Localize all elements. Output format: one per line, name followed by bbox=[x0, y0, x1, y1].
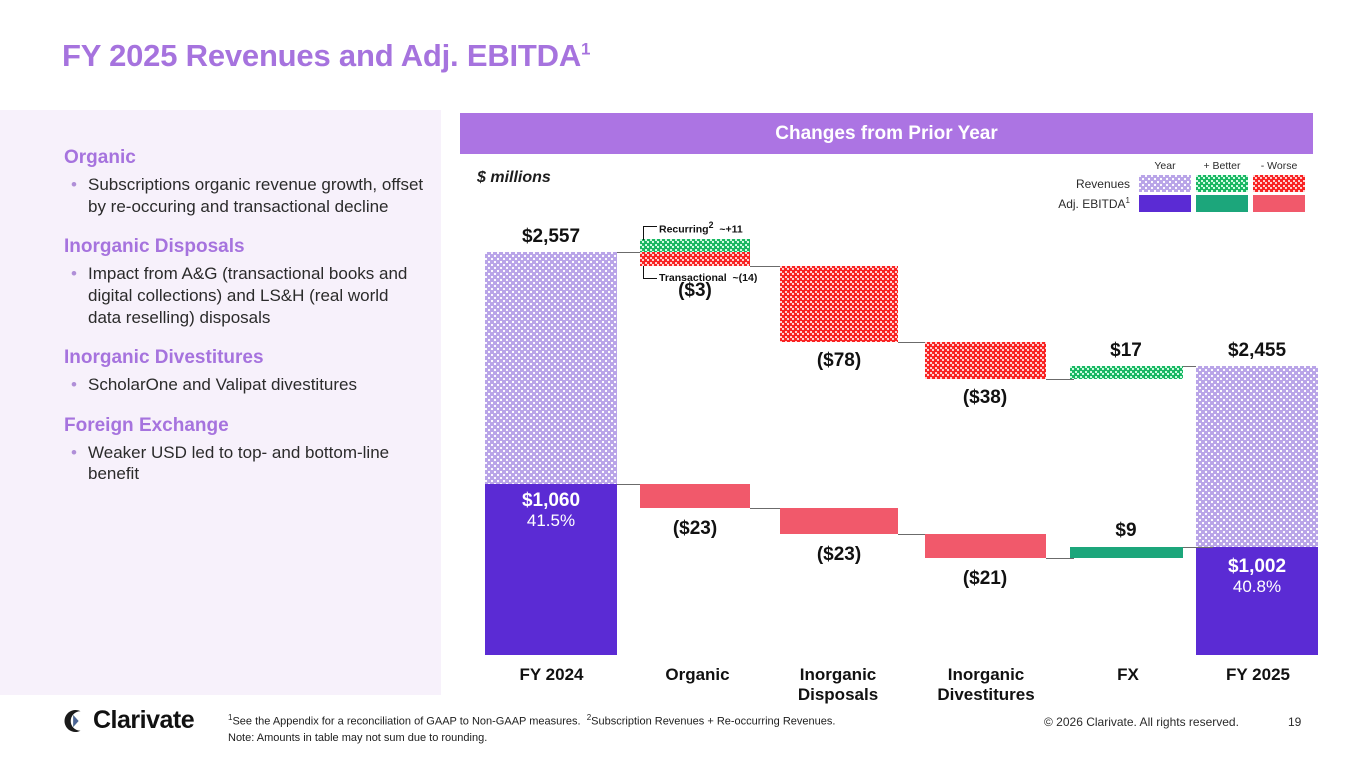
value-label-divestitures-revenue: ($38) bbox=[920, 387, 1050, 409]
callout-recurring-superscript: 2 bbox=[709, 220, 714, 230]
value-label-fx-revenue: $17 bbox=[1061, 340, 1191, 362]
legend-col-worse: - Worse bbox=[1253, 160, 1305, 172]
bar-organic-ebitda[interactable] bbox=[640, 484, 750, 508]
commentary-group-inorganic-disposals: Inorganic Disposals • Impact from A&G (t… bbox=[64, 235, 424, 328]
commentary-bullet: • ScholarOne and Valipat divestitures bbox=[64, 374, 424, 396]
ebitda-value: $1,002 bbox=[1196, 556, 1318, 577]
value-label-disposals-ebitda: ($23) bbox=[774, 544, 904, 566]
footnote-1-text: See the Appendix for a reconciliation of… bbox=[232, 716, 580, 728]
page-title-superscript: 1 bbox=[581, 40, 590, 59]
x-tick-organic: Organic bbox=[625, 665, 770, 685]
bar-organic-revenue-transactional[interactable] bbox=[640, 252, 750, 266]
value-label-organic-ebitda: ($23) bbox=[630, 518, 760, 540]
bar-fx-ebitda[interactable] bbox=[1070, 547, 1183, 558]
callout-recurring-value: ~+11 bbox=[719, 224, 742, 236]
value-label-fy2025-ebitda: $1,002 40.8% bbox=[1196, 556, 1318, 597]
commentary-heading: Organic bbox=[64, 146, 424, 170]
legend-swatch-revenue-worse bbox=[1253, 175, 1305, 192]
commentary-bullet-text: ScholarOne and Valipat divestitures bbox=[88, 375, 357, 394]
clarivate-wordmark: Clarivate bbox=[93, 706, 194, 735]
bullet-dot-icon: • bbox=[71, 442, 77, 464]
bar-fx-revenue[interactable] bbox=[1070, 366, 1183, 379]
chart-header-band: Changes from Prior Year bbox=[460, 113, 1313, 154]
footnote-line-2: Note: Amounts in table may not sum due t… bbox=[228, 731, 835, 747]
callout-transactional: Transactional ~(14) bbox=[659, 272, 757, 284]
legend-swatch-ebitda-year bbox=[1139, 195, 1191, 212]
ebitda-margin: 41.5% bbox=[485, 511, 617, 531]
commentary-bullet-text: Subscriptions organic revenue growth, of… bbox=[88, 175, 423, 216]
slide-footer: Clarivate 1See the Appendix for a reconc… bbox=[0, 700, 1365, 766]
ebitda-margin: 40.8% bbox=[1196, 577, 1318, 597]
callout-transactional-value: ~(14) bbox=[733, 272, 758, 284]
bar-inorganic-divestitures-ebitda[interactable] bbox=[925, 534, 1046, 558]
commentary-heading: Inorganic Disposals bbox=[64, 235, 424, 259]
value-label-divestitures-ebitda: ($21) bbox=[920, 568, 1050, 590]
slide-root: FY 2025 Revenues and Adj. EBITDA1 Organi… bbox=[0, 0, 1365, 766]
footnote-2-text: Subscription Revenues + Re-occurring Rev… bbox=[591, 716, 835, 728]
value-label-disposals-revenue: ($78) bbox=[774, 350, 904, 372]
commentary-group-inorganic-divestitures: Inorganic Divestitures • ScholarOne and … bbox=[64, 346, 424, 396]
value-label-fy2025-revenue: $2,455 bbox=[1192, 340, 1322, 362]
connector-ebitda-divestitures-fx bbox=[1046, 558, 1074, 559]
commentary-list: Organic • Subscriptions organic revenue … bbox=[64, 146, 424, 503]
bar-organic-revenue-recurring[interactable] bbox=[640, 239, 750, 252]
commentary-panel: Organic • Subscriptions organic revenue … bbox=[0, 110, 441, 695]
value-label-fy2024-revenue: $2,557 bbox=[485, 226, 617, 248]
commentary-group-organic: Organic • Subscriptions organic revenue … bbox=[64, 146, 424, 217]
copyright-text: © 2026 Clarivate. All rights reserved. bbox=[1044, 715, 1239, 729]
commentary-bullet: • Subscriptions organic revenue growth, … bbox=[64, 174, 424, 218]
value-label-fy2024-ebitda: $1,060 41.5% bbox=[485, 490, 617, 531]
legend-swatch-ebitda-worse bbox=[1253, 195, 1305, 212]
ebitda-value: $1,060 bbox=[485, 490, 617, 511]
legend-swatch-revenue-year bbox=[1139, 175, 1191, 192]
legend-swatch-revenue-better bbox=[1196, 175, 1248, 192]
commentary-bullet: • Impact from A&G (transactional books a… bbox=[64, 263, 424, 328]
bullet-dot-icon: • bbox=[71, 174, 77, 196]
legend-row-label: Revenues bbox=[1058, 175, 1134, 192]
page-number: 19 bbox=[1288, 715, 1301, 729]
footnote-line-1: 1See the Appendix for a reconciliation o… bbox=[228, 712, 835, 731]
callout-recurring-text: Recurring bbox=[659, 224, 709, 236]
commentary-heading: Foreign Exchange bbox=[64, 414, 424, 438]
value-label-fx-ebitda: $9 bbox=[1061, 520, 1191, 542]
clarivate-mark-icon bbox=[60, 708, 86, 734]
x-tick-fy2024: FY 2024 bbox=[479, 665, 624, 685]
bar-inorganic-disposals-revenue[interactable] bbox=[780, 266, 898, 342]
x-tick-fx: FX bbox=[1058, 665, 1198, 685]
commentary-heading: Inorganic Divestitures bbox=[64, 346, 424, 370]
commentary-group-foreign-exchange: Foreign Exchange • Weaker USD led to top… bbox=[64, 414, 424, 485]
chart-title: Changes from Prior Year bbox=[775, 123, 997, 145]
bullet-dot-icon: • bbox=[71, 263, 77, 285]
legend-row-label-text: Adj. EBITDA bbox=[1058, 197, 1125, 211]
legend-col-better: + Better bbox=[1196, 160, 1248, 172]
footnotes: 1See the Appendix for a reconciliation o… bbox=[228, 712, 835, 747]
connector-rev-disposals-divestitures bbox=[898, 342, 928, 343]
callout-recurring: Recurring2 ~+11 bbox=[659, 220, 743, 236]
connector-rev-organic-disposals bbox=[750, 266, 784, 267]
connector-ebitda-organic-disposals bbox=[750, 508, 784, 509]
callout-leader-recurring bbox=[643, 226, 657, 240]
chart-units-label: $ millions bbox=[477, 169, 551, 187]
legend-swatch-ebitda-better bbox=[1196, 195, 1248, 212]
commentary-bullet-text: Impact from A&G (transactional books and… bbox=[88, 264, 407, 327]
bar-fy2025-revenue[interactable] bbox=[1196, 366, 1318, 547]
chart-legend: Year + Better - Worse Revenues Adj. EBIT… bbox=[1053, 157, 1310, 215]
x-tick-fy2025: FY 2025 bbox=[1188, 665, 1328, 685]
waterfall-chart: Changes from Prior Year $ millions Year … bbox=[460, 113, 1313, 673]
callout-transactional-text: Transactional bbox=[659, 272, 727, 284]
legend-row-adj-ebitda: Adj. EBITDA1 bbox=[1058, 195, 1305, 212]
commentary-bullet: • Weaker USD led to top- and bottom-line… bbox=[64, 442, 424, 486]
page-title-text: FY 2025 Revenues and Adj. EBITDA bbox=[62, 38, 581, 73]
bar-fy2024-revenue[interactable] bbox=[485, 252, 617, 484]
callout-leader-transactional bbox=[643, 266, 657, 279]
bullet-dot-icon: • bbox=[71, 374, 77, 396]
page-title: FY 2025 Revenues and Adj. EBITDA1 bbox=[62, 38, 590, 74]
bar-inorganic-disposals-ebitda[interactable] bbox=[780, 508, 898, 534]
bar-inorganic-divestitures-revenue[interactable] bbox=[925, 342, 1046, 379]
legend-row-label-superscript: 1 bbox=[1126, 196, 1130, 205]
legend-col-year: Year bbox=[1139, 160, 1191, 172]
clarivate-logo: Clarivate bbox=[60, 706, 194, 735]
legend-row-label: Adj. EBITDA1 bbox=[1058, 195, 1134, 212]
connector-rev-divestitures-fx bbox=[1046, 379, 1074, 380]
connector-ebitda-disposals-divestitures bbox=[898, 534, 928, 535]
legend-row-revenues: Revenues bbox=[1058, 175, 1305, 192]
connector-ebitda-fx-fy2025 bbox=[1183, 547, 1213, 548]
plot-area: $2,557 $1,060 41.5% ($3) Recurring2 ~+11… bbox=[473, 248, 1313, 653]
commentary-bullet-text: Weaker USD led to top- and bottom-line b… bbox=[88, 443, 389, 484]
